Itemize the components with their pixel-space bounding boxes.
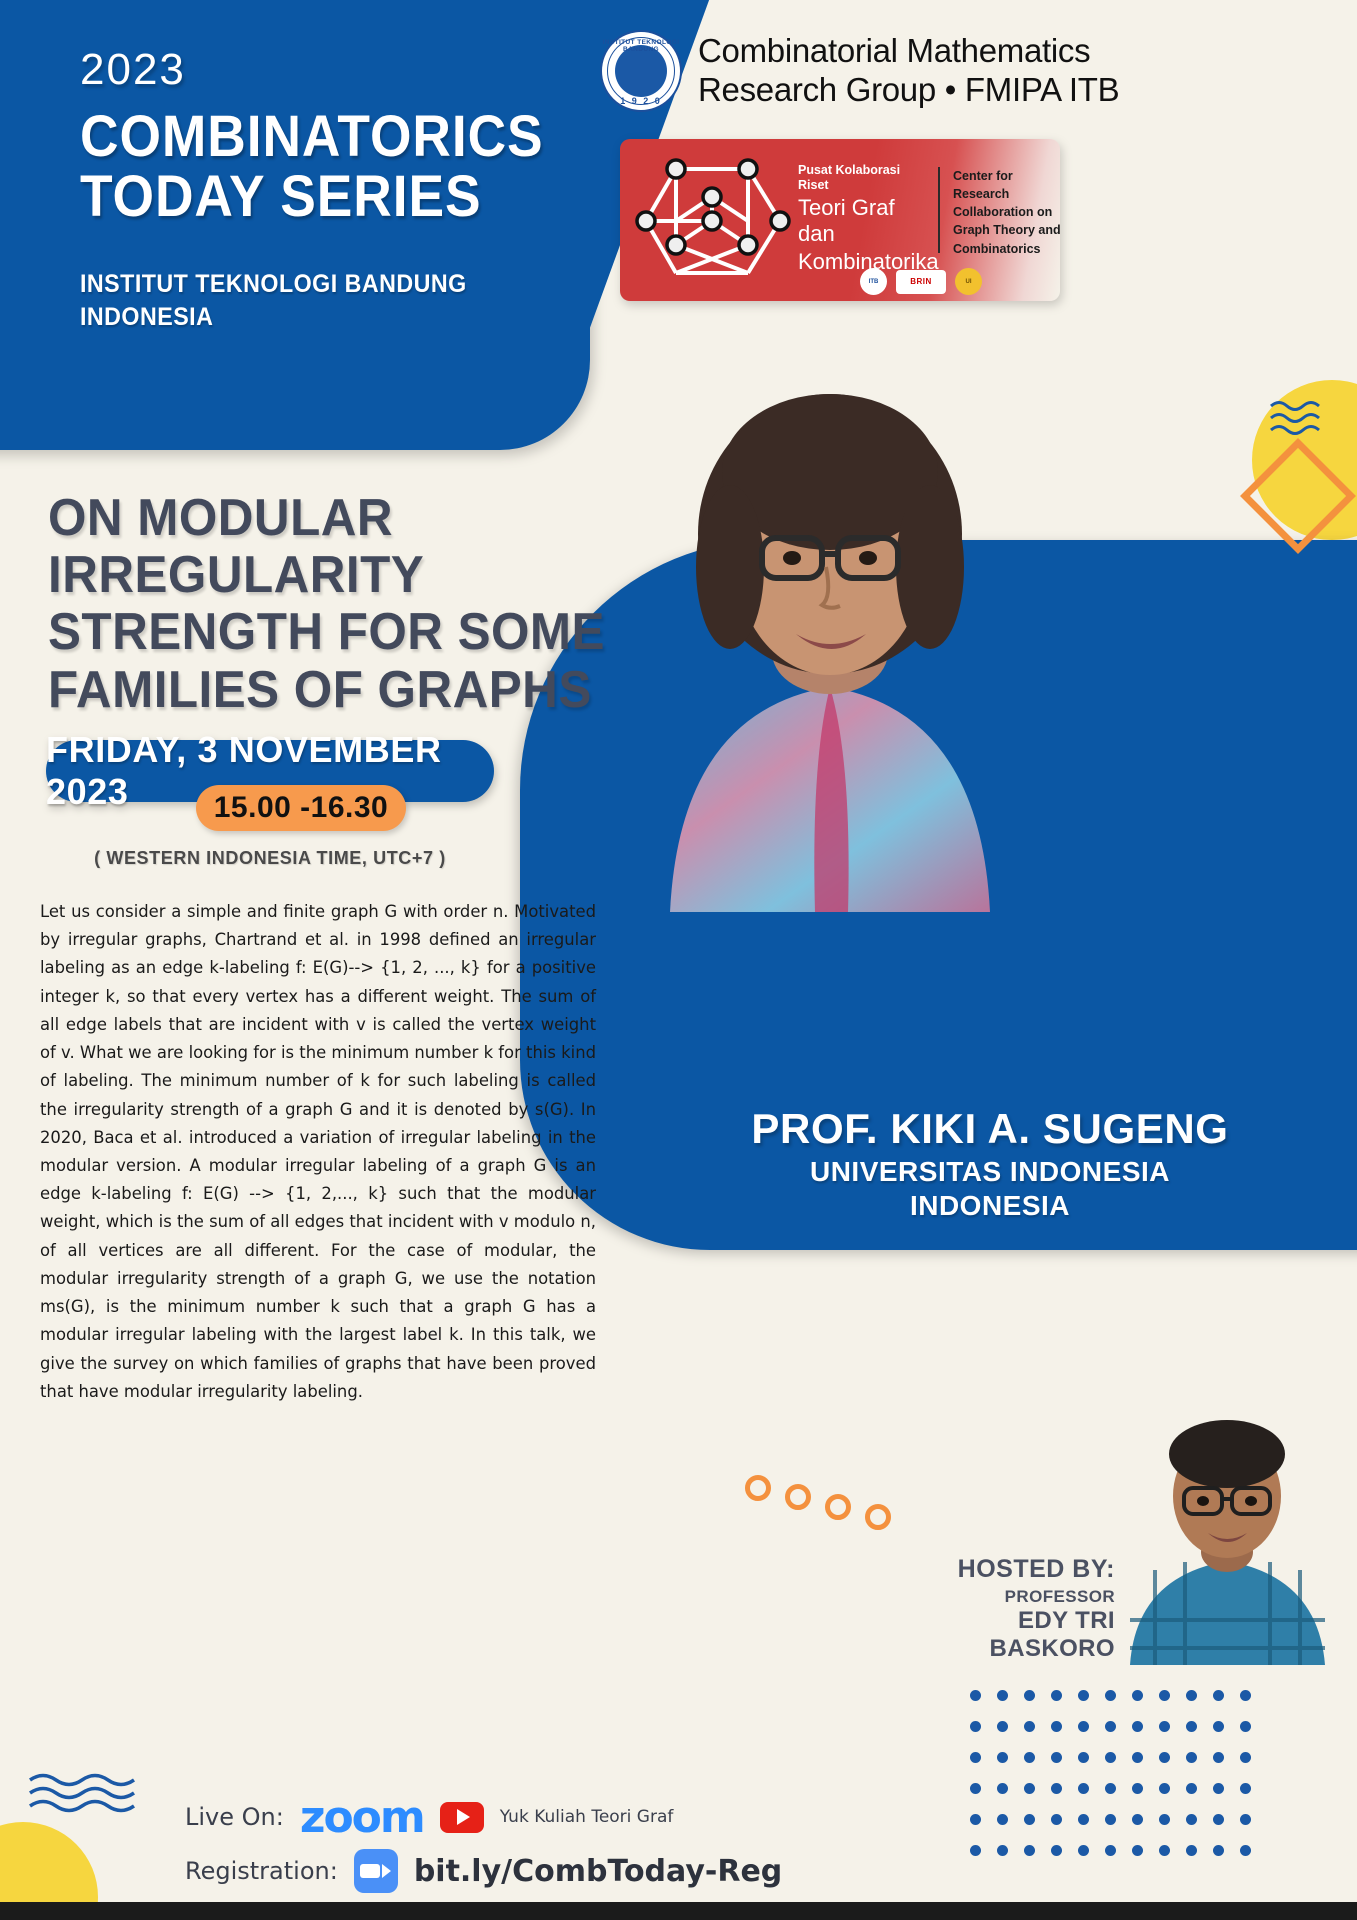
- grid-dot: [1213, 1690, 1224, 1701]
- ring-2: [785, 1484, 811, 1510]
- grid-dot: [1105, 1783, 1116, 1794]
- grid-dot: [997, 1845, 1008, 1856]
- grid-dot: [1132, 1752, 1143, 1763]
- live-on-row: Live On: zoom Yuk Kuliah Teori Graf: [185, 1790, 782, 1844]
- host-block: HOSTED BY: PROFESSOR EDY TRI BASKORO: [905, 1555, 1115, 1663]
- grid-dot: [1159, 1690, 1170, 1701]
- itb-seal-logo: INSTITUT TEKNOLOGI BANDUNG 1 9 2 0: [600, 30, 682, 112]
- seal-year: 1 9 2 0: [602, 96, 680, 106]
- itb-small-logo: ITB: [860, 268, 887, 295]
- grid-dot: [1240, 1721, 1251, 1732]
- grid-dot: [1213, 1721, 1224, 1732]
- ui-logo: UI: [955, 268, 982, 295]
- grid-dot: [970, 1814, 981, 1825]
- grid-dot: [1078, 1845, 1089, 1856]
- brin-logo: BRIN: [896, 270, 946, 294]
- institution-line2: INDONESIA: [80, 301, 549, 334]
- grid-dot: [1132, 1845, 1143, 1856]
- grid-dot: [1186, 1845, 1197, 1856]
- graph-network-illustration: [628, 145, 798, 295]
- grid-dot: [1078, 1814, 1089, 1825]
- speaker-affiliation-line2: INDONESIA: [620, 1189, 1357, 1223]
- grid-dot: [997, 1814, 1008, 1825]
- banner-english-line1: Center for Research: [953, 167, 1060, 203]
- bottom-bar: [0, 1902, 1357, 1920]
- wave-lines-left-icon: [28, 1772, 146, 1814]
- talk-title-line3: FAMILIES OF GRAPHS: [48, 662, 618, 719]
- speaker-name: PROF. KIKI A. SUGENG: [620, 1105, 1357, 1153]
- host-label: HOSTED BY:: [905, 1555, 1115, 1584]
- speaker-portrait: [610, 352, 1050, 912]
- grid-dot: [997, 1721, 1008, 1732]
- grid-dot: [1051, 1783, 1062, 1794]
- group-name-line2: Research Group • FMIPA ITB: [698, 71, 1119, 110]
- grid-dot: [1240, 1783, 1251, 1794]
- abstract-text: Let us consider a simple and finite grap…: [40, 898, 596, 1406]
- grid-dot: [1240, 1845, 1251, 1856]
- grid-dot: [1051, 1814, 1062, 1825]
- timezone-note: ( WESTERN INDONESIA TIME, UTC+7 ): [46, 848, 494, 869]
- seal-arc-text: INSTITUT TEKNOLOGI BANDUNG: [602, 39, 680, 53]
- grid-dot: [1186, 1783, 1197, 1794]
- grid-dot: [1024, 1690, 1035, 1701]
- banner-english-text: Center for Research Collaboration on Gra…: [953, 167, 1060, 258]
- institution-block: INSTITUT TEKNOLOGI BANDUNG INDONESIA: [80, 268, 549, 333]
- banner-divider: [938, 167, 940, 253]
- ring-3: [825, 1494, 851, 1520]
- time-badge: 15.00 -16.30: [196, 785, 406, 831]
- grid-dot: [1051, 1690, 1062, 1701]
- grid-dot: [1240, 1814, 1251, 1825]
- grid-dot: [1213, 1845, 1224, 1856]
- registration-row: Registration: bit.ly/CombToday-Reg: [185, 1844, 782, 1898]
- group-name: Combinatorial Mathematics Research Group…: [698, 32, 1119, 110]
- dot-grid-decoration: [970, 1690, 1270, 1880]
- research-group-header: INSTITUT TEKNOLOGI BANDUNG 1 9 2 0 Combi…: [600, 30, 1119, 112]
- youtube-icon[interactable]: [440, 1802, 484, 1833]
- talk-title-line1: ON MODULAR IRREGULARITY: [48, 490, 618, 604]
- grid-dot: [1186, 1721, 1197, 1732]
- poster-root: 2023 COMBINATORICS TODAY SERIES INSTITUT…: [0, 0, 1357, 1920]
- talk-title-line2: STRENGTH FOR SOME: [48, 604, 618, 661]
- banner-english-line2: Collaboration on: [953, 203, 1060, 221]
- ring-1: [745, 1475, 771, 1501]
- ring-4: [865, 1504, 891, 1530]
- grid-dot: [1132, 1814, 1143, 1825]
- grid-dot: [1159, 1721, 1170, 1732]
- grid-dot: [1240, 1690, 1251, 1701]
- group-name-line1: Combinatorial Mathematics: [698, 32, 1119, 71]
- zoom-logo[interactable]: zoom: [300, 1792, 424, 1843]
- grid-dot: [1105, 1814, 1116, 1825]
- grid-dot: [1024, 1721, 1035, 1732]
- youtube-channel-name[interactable]: Yuk Kuliah Teori Graf: [500, 1807, 674, 1827]
- grid-dot: [1186, 1690, 1197, 1701]
- banner-partner-logos: ITB BRIN UI: [860, 268, 982, 295]
- orange-rings-decoration: [745, 1475, 891, 1530]
- grid-dot: [1078, 1783, 1089, 1794]
- footer-block: Live On: zoom Yuk Kuliah Teori Graf Regi…: [185, 1790, 782, 1898]
- grid-dot: [997, 1690, 1008, 1701]
- grid-dot: [1159, 1814, 1170, 1825]
- grid-dot: [1078, 1752, 1089, 1763]
- live-on-label: Live On:: [185, 1803, 284, 1831]
- grid-dot: [997, 1783, 1008, 1794]
- grid-dot: [1078, 1721, 1089, 1732]
- grid-dot: [970, 1783, 981, 1794]
- grid-dot: [1213, 1783, 1224, 1794]
- banner-indonesian-text: Pusat Kolaborasi Riset Teori Graf dan Ko…: [798, 163, 928, 275]
- grid-dot: [1186, 1752, 1197, 1763]
- grid-dot: [1213, 1814, 1224, 1825]
- grid-dot: [1132, 1721, 1143, 1732]
- host-portrait: [1120, 1420, 1335, 1665]
- banner-english-line3: Graph Theory and: [953, 221, 1060, 239]
- speaker-affiliation-line1: UNIVERSITAS INDONESIA: [620, 1155, 1357, 1189]
- series-title: COMBINATORICS TODAY SERIES: [80, 107, 544, 226]
- institution-line1: INSTITUT TEKNOLOGI BANDUNG: [80, 268, 549, 301]
- banner-kicker: Pusat Kolaborasi Riset: [798, 163, 928, 193]
- grid-dot: [970, 1845, 981, 1856]
- banner-english-line4: Combinatorics: [953, 240, 1060, 258]
- grid-dot: [970, 1752, 981, 1763]
- grid-dot: [1051, 1845, 1062, 1856]
- grid-dot: [1024, 1752, 1035, 1763]
- grid-dot: [1240, 1752, 1251, 1763]
- header-text-block: 2023 COMBINATORICS TODAY SERIES INSTITUT…: [80, 45, 584, 333]
- grid-dot: [997, 1752, 1008, 1763]
- series-title-line2: TODAY SERIES: [80, 167, 544, 227]
- grid-dot: [1105, 1690, 1116, 1701]
- speaker-affiliation: UNIVERSITAS INDONESIA INDONESIA: [620, 1155, 1357, 1222]
- grid-dot: [1105, 1845, 1116, 1856]
- wave-lines-right-icon: [1269, 398, 1333, 438]
- grid-dot: [1024, 1783, 1035, 1794]
- grid-dot: [1105, 1752, 1116, 1763]
- grid-dot: [1105, 1721, 1116, 1732]
- grid-dot: [1213, 1752, 1224, 1763]
- grid-dot: [1159, 1845, 1170, 1856]
- research-center-banner: Pusat Kolaborasi Riset Teori Graf dan Ko…: [620, 139, 1060, 301]
- video-camera-icon: [354, 1849, 398, 1893]
- host-name: EDY TRI BASKORO: [905, 1607, 1115, 1663]
- grid-dot: [1051, 1752, 1062, 1763]
- banner-title-line1: Teori Graf dan: [798, 195, 928, 247]
- talk-title: ON MODULAR IRREGULARITY STRENGTH FOR SOM…: [48, 490, 618, 719]
- grid-dot: [1051, 1721, 1062, 1732]
- registration-label: Registration:: [185, 1857, 338, 1885]
- grid-dot: [1186, 1814, 1197, 1825]
- host-role: PROFESSOR: [905, 1587, 1115, 1607]
- grid-dot: [1078, 1690, 1089, 1701]
- grid-dot: [1159, 1752, 1170, 1763]
- registration-link[interactable]: bit.ly/CombToday-Reg: [414, 1854, 782, 1889]
- grid-dot: [1024, 1845, 1035, 1856]
- series-title-line1: COMBINATORICS: [80, 107, 544, 167]
- grid-dot: [1132, 1690, 1143, 1701]
- grid-dot: [1132, 1783, 1143, 1794]
- grid-dot: [970, 1721, 981, 1732]
- grid-dot: [970, 1690, 981, 1701]
- year-label: 2023: [80, 45, 584, 95]
- grid-dot: [1024, 1814, 1035, 1825]
- grid-dot: [1159, 1783, 1170, 1794]
